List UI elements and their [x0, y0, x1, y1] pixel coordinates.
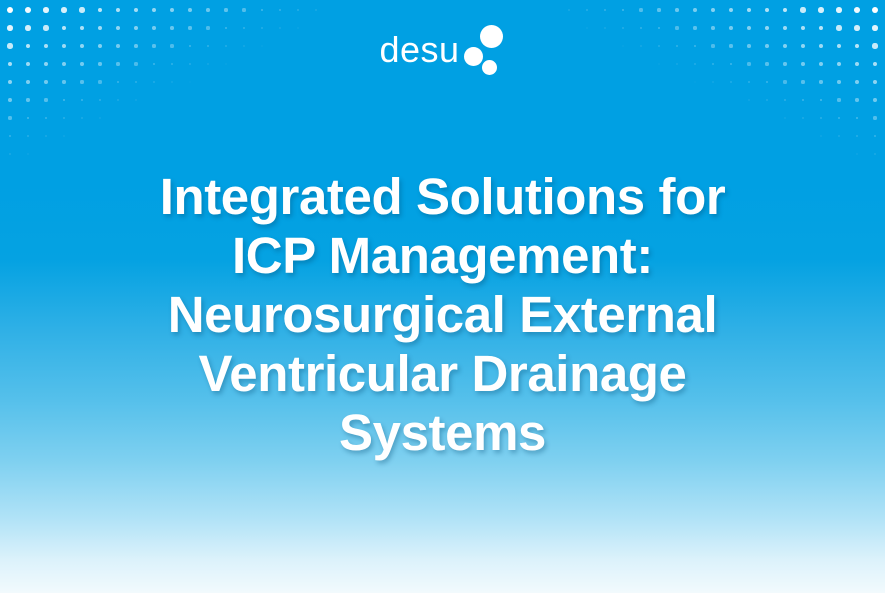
pattern-dot — [99, 117, 101, 119]
pattern-dot — [81, 99, 84, 102]
pattern-dot — [802, 99, 805, 102]
pattern-dot — [43, 7, 49, 13]
pattern-dot — [783, 8, 788, 13]
pattern-dot — [748, 99, 750, 101]
pattern-dot — [747, 8, 751, 12]
pattern-dot — [784, 99, 787, 102]
title-slide: desu Integrated Solutions for ICP Manage… — [0, 0, 885, 593]
pattern-dot — [315, 9, 317, 11]
pattern-dot — [8, 116, 11, 119]
pattern-dot — [9, 153, 11, 155]
pattern-dot — [854, 7, 860, 13]
pattern-dot — [45, 117, 48, 120]
pattern-dot — [297, 9, 299, 11]
pattern-dot — [729, 8, 733, 12]
pattern-dot — [874, 153, 876, 155]
title-line-1: Integrated Solutions for — [60, 167, 825, 226]
pattern-dot — [802, 117, 804, 119]
brand-large-dot-icon — [480, 25, 503, 48]
pattern-dot — [818, 7, 823, 12]
pattern-dot — [765, 8, 770, 13]
pattern-dot — [61, 7, 66, 12]
pattern-dot — [604, 9, 607, 12]
pattern-dot — [7, 7, 13, 13]
pattern-dot — [838, 135, 840, 137]
pattern-dot — [63, 99, 66, 102]
pattern-dot — [675, 8, 679, 12]
pattern-dot — [26, 98, 29, 101]
title-line-5: Systems — [60, 403, 825, 462]
title-line-2: ICP Management: — [60, 226, 825, 285]
pattern-dot — [63, 135, 65, 137]
title-line-3: Neurosurgical External — [60, 285, 825, 344]
pattern-dot — [170, 8, 174, 12]
pattern-dot — [568, 9, 570, 11]
pattern-dot — [99, 99, 102, 102]
pattern-dot — [872, 7, 878, 13]
pattern-dot — [873, 98, 877, 102]
pattern-dot — [81, 117, 83, 119]
pattern-dot — [206, 8, 210, 12]
pattern-dot — [242, 8, 245, 11]
pattern-dot — [27, 135, 30, 138]
pattern-dot — [8, 98, 12, 102]
pattern-dot — [820, 117, 823, 120]
brand-logo: desu — [0, 20, 885, 82]
pattern-dot — [98, 8, 103, 13]
pattern-dot — [856, 135, 859, 138]
pattern-dot — [856, 117, 859, 120]
pattern-dot — [874, 135, 877, 138]
pattern-dot — [711, 8, 715, 12]
pattern-dot — [27, 153, 29, 155]
pattern-dot — [224, 8, 227, 11]
pattern-dot — [586, 9, 588, 11]
pattern-dot — [856, 153, 858, 155]
pattern-dot — [27, 117, 30, 120]
brand-dots-icon — [462, 22, 506, 80]
pattern-dot — [135, 99, 137, 101]
pattern-dot — [837, 98, 840, 101]
pattern-dot — [873, 116, 876, 119]
brand-medium-dot-icon — [464, 47, 483, 66]
pattern-dot — [693, 8, 697, 12]
brand-logo-inner: desu — [379, 20, 505, 82]
slide-title: Integrated Solutions for ICP Management:… — [0, 167, 885, 462]
pattern-dot — [116, 8, 121, 13]
pattern-dot — [836, 7, 842, 13]
pattern-dot — [639, 8, 642, 11]
pattern-dot — [784, 117, 786, 119]
pattern-dot — [838, 117, 841, 120]
pattern-dot — [152, 8, 156, 12]
pattern-dot — [657, 8, 660, 11]
pattern-dot — [800, 7, 805, 12]
pattern-dot — [79, 7, 84, 12]
pattern-dot — [622, 9, 625, 12]
pattern-dot — [820, 99, 823, 102]
pattern-dot — [134, 8, 138, 12]
pattern-dot — [188, 8, 192, 12]
pattern-dot — [44, 98, 47, 101]
pattern-dot — [63, 117, 66, 120]
pattern-dot — [766, 99, 768, 101]
pattern-dot — [820, 135, 822, 137]
pattern-dot — [279, 9, 282, 12]
title-line-4: Ventricular Drainage — [60, 344, 825, 403]
brand-wordmark: desu — [379, 32, 459, 70]
pattern-dot — [25, 7, 31, 13]
pattern-dot — [117, 99, 119, 101]
pattern-dot — [855, 98, 858, 101]
pattern-dot — [45, 135, 47, 137]
brand-small-dot-icon — [482, 60, 497, 75]
pattern-dot — [261, 9, 264, 12]
pattern-dot — [9, 135, 12, 138]
